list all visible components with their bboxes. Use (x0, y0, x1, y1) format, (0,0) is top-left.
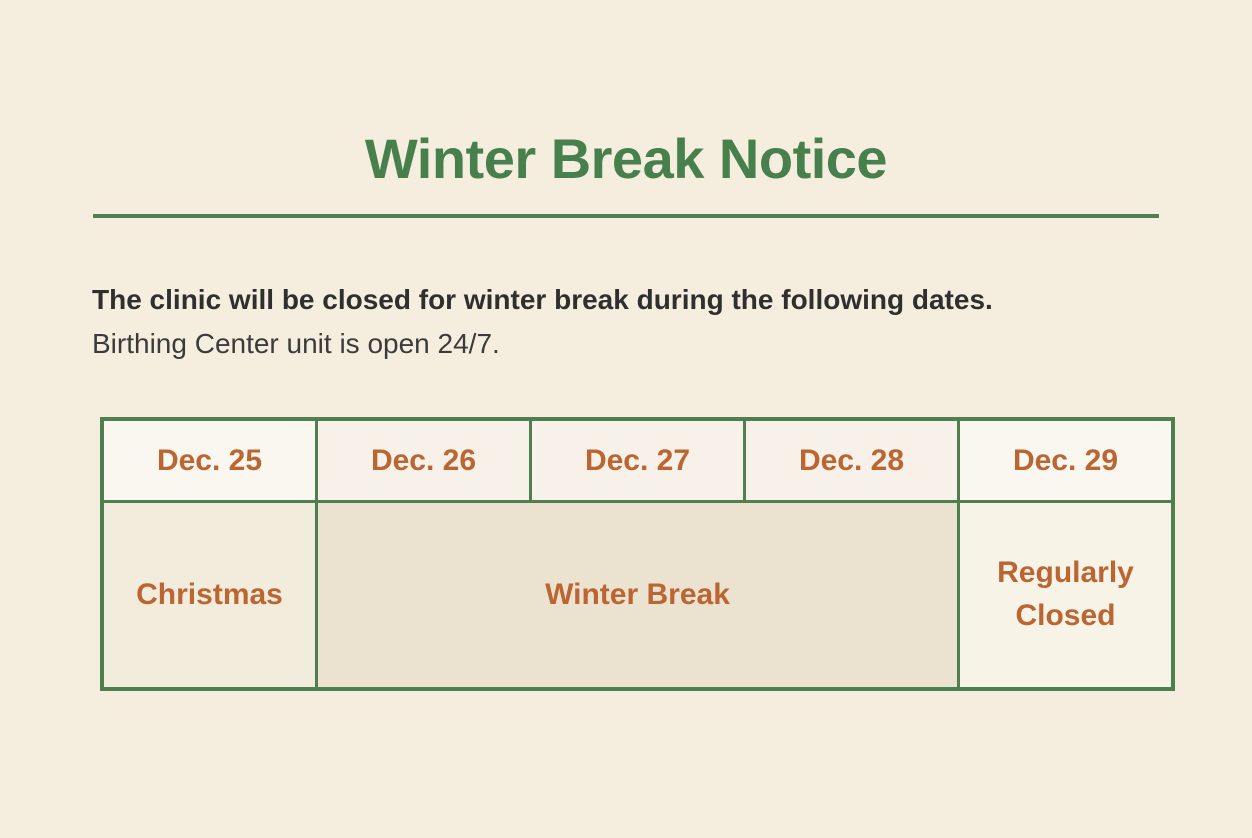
status-label-christmas: Christmas (136, 574, 283, 617)
date-header-dec-28: Dec. 28 (746, 421, 960, 500)
date-header-dec-29: Dec. 29 (960, 421, 1171, 500)
title-divider-rule (93, 214, 1159, 218)
intro-line-primary: The clinic will be closed for winter bre… (92, 278, 1202, 322)
date-header-dec-27: Dec. 27 (532, 421, 746, 500)
date-header-dec-25: Dec. 25 (104, 421, 318, 500)
schedule-table-inner: Dec. 25 Dec. 26 Dec. 27 Dec. 28 Dec. 29 … (104, 421, 1171, 687)
status-label-regularly-closed-line1: Regularly (997, 552, 1134, 595)
status-cell-christmas: Christmas (104, 503, 318, 687)
winter-break-notice-page: Winter Break Notice The clinic will be c… (0, 0, 1252, 838)
schedule-table: Dec. 25 Dec. 26 Dec. 27 Dec. 28 Dec. 29 … (100, 417, 1175, 691)
page-title: Winter Break Notice (0, 130, 1252, 189)
status-label-regularly-closed: Regularly Closed (997, 552, 1134, 637)
intro-paragraph: The clinic will be closed for winter bre… (92, 278, 1202, 366)
date-header-dec-26: Dec. 26 (318, 421, 532, 500)
status-label-winter-break: Winter Break (545, 574, 730, 617)
status-label-regularly-closed-line2: Closed (997, 595, 1134, 638)
schedule-status-row: Christmas Winter Break Regularly Closed (104, 503, 1171, 687)
status-cell-regularly-closed: Regularly Closed (960, 503, 1171, 687)
intro-line-secondary: Birthing Center unit is open 24/7. (92, 322, 1202, 366)
status-cell-winter-break: Winter Break (318, 503, 960, 687)
schedule-header-row: Dec. 25 Dec. 26 Dec. 27 Dec. 28 Dec. 29 (104, 421, 1171, 503)
